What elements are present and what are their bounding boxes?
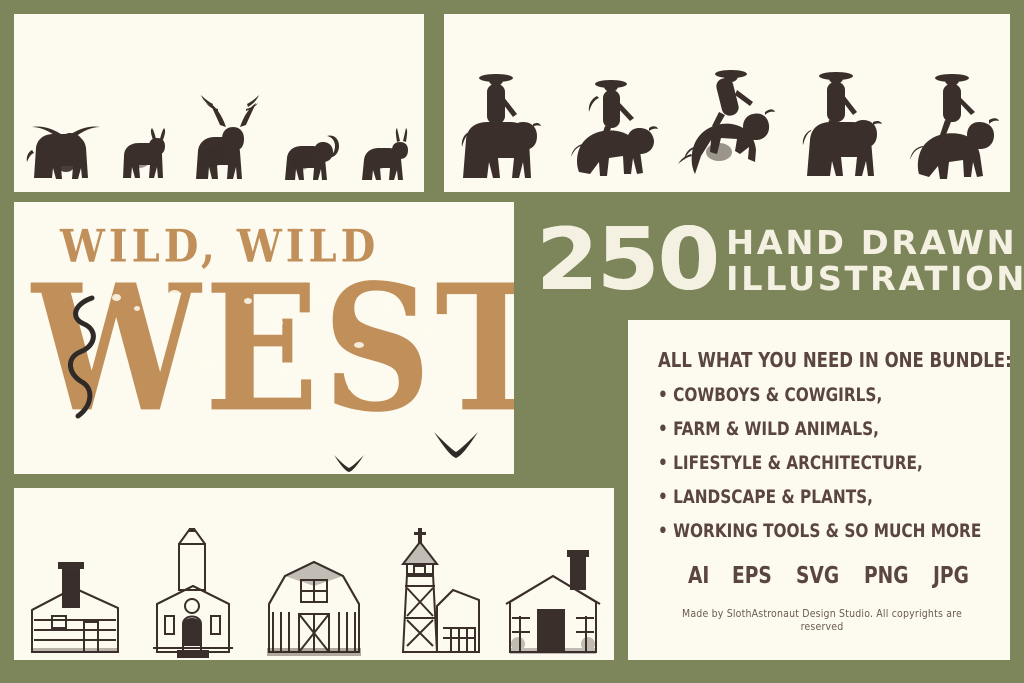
- feature-item: • COWBOYS & COWGIRLS,: [658, 385, 960, 406]
- format-eps: EPS: [732, 563, 772, 589]
- feature-item: • WORKING TOOLS & SO MUCH MORE: [658, 521, 960, 542]
- distress-speck: [424, 330, 432, 336]
- hero-panel: WILD, WILD WEST: [14, 202, 514, 474]
- lasso-rope: [54, 294, 134, 424]
- water-tower-illustration: [385, 528, 485, 660]
- headline-line-1: HAND DRAWN: [726, 226, 1024, 260]
- cowboys-panel: [444, 14, 1010, 192]
- distress-speck: [169, 290, 180, 296]
- log-cabin-illustration: [22, 552, 128, 660]
- distress-speck: [202, 362, 211, 368]
- file-formats-row: AI EPS SVG PNG JPG: [658, 563, 986, 589]
- longhorn-bull-illustration: [20, 106, 102, 192]
- deer-illustration: [113, 116, 175, 192]
- poster-root: WILD, WILD WEST: [0, 0, 1024, 683]
- distress-speck: [276, 320, 283, 326]
- format-jpg: JPG: [933, 563, 969, 589]
- distress-speck: [282, 372, 289, 377]
- buildings-row: [14, 488, 614, 660]
- illustration-count: 250: [536, 222, 718, 299]
- flying-bird-small: [332, 452, 366, 474]
- feature-item: • LANDSCAPE & PLANTS,: [658, 487, 960, 508]
- cowboy-bucking-bronco-illustration: [675, 64, 779, 192]
- cowboy-walking-horse-illustration: [793, 66, 889, 192]
- headline-block: 250 HAND DRAWN ILLUSTRATIONS: [528, 202, 1024, 320]
- cowgirl-galloping-horse-illustration: [561, 68, 661, 192]
- distress-speck: [244, 298, 252, 304]
- cowboys-row: [444, 14, 1010, 192]
- format-svg: SVG: [796, 563, 839, 589]
- feature-item: • FARM & WILD ANIMALS,: [658, 419, 960, 440]
- church-steeple-illustration: [143, 528, 243, 660]
- pronghorn-antelope-illustration: [354, 122, 418, 192]
- features-title: ALL WHAT YOU NEED IN ONE BUNDLE:: [658, 348, 960, 372]
- format-ai: AI: [688, 563, 709, 589]
- animals-row: [14, 14, 424, 192]
- features-panel: ALL WHAT YOU NEED IN ONE BUNDLE: • COWBO…: [628, 320, 1010, 660]
- cowboy-trotting-horse-illustration: [903, 66, 1003, 192]
- distress-speck: [386, 302, 393, 307]
- barn-illustration: [259, 542, 369, 660]
- animals-panel: [14, 14, 424, 192]
- cowboy-standing-horse-illustration: [451, 66, 547, 192]
- bighorn-ram-illustration: [277, 120, 343, 192]
- stone-cabin-illustration: [500, 548, 606, 660]
- credit-line: Made by SlothAstronaut Design Studio. Al…: [666, 607, 978, 633]
- distress-speck: [134, 306, 140, 311]
- distress-speck: [314, 294, 323, 301]
- distress-speck: [354, 342, 364, 348]
- format-png: PNG: [864, 563, 909, 589]
- feature-item: • LIFESTYLE & ARCHITECTURE,: [658, 453, 960, 474]
- distress-speck: [348, 384, 359, 391]
- headline-line-2: ILLUSTRATIONS: [726, 262, 1024, 296]
- elk-illustration: [186, 87, 266, 192]
- buildings-panel: [14, 488, 614, 660]
